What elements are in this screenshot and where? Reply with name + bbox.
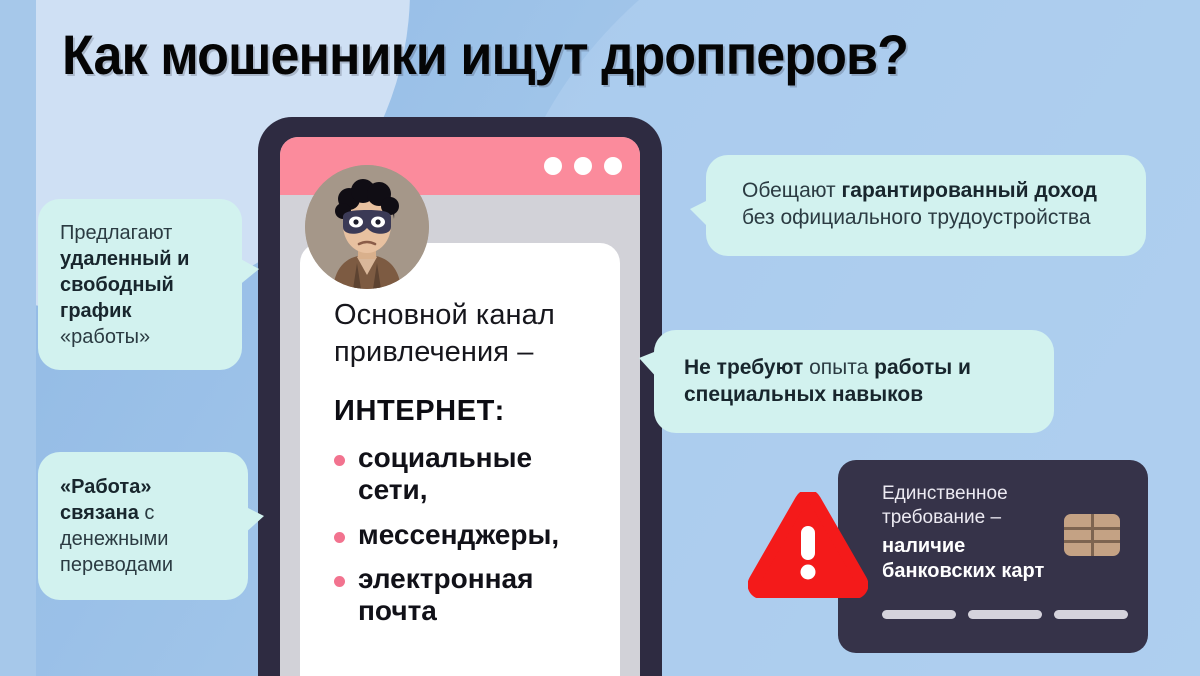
bubble-money-transfers: «Работа» связана с денежными переводами (38, 452, 248, 600)
bubble-text-part: опыта (809, 356, 874, 379)
screen-heading: ИНТЕРНЕТ: (334, 395, 594, 428)
bubble-text-bold: гарантированный доход (842, 179, 1098, 202)
bubble-tail (639, 350, 659, 380)
card-bar (882, 610, 956, 619)
list-item: социальные сети, (334, 442, 594, 506)
avatar (305, 165, 429, 289)
bubble-text-part: «работы» (60, 326, 150, 348)
page-title: Как мошенники ищут дропперов? (62, 22, 908, 87)
bubble-text-part: Обещают (742, 179, 842, 202)
card-number-bars (882, 610, 1128, 619)
bubble-tail (690, 199, 710, 229)
window-dot-icon (544, 157, 562, 175)
bubble-text-part: Предлагают (60, 222, 172, 244)
card-bar (1054, 610, 1128, 619)
screen-lead-text: Основной канал привлечения – (334, 297, 594, 371)
card-lead-line-1: Единственное (882, 482, 1126, 506)
background-left-strip (0, 0, 36, 676)
card-bar (968, 610, 1042, 619)
screen-lead-line-1: Основной канал (334, 297, 594, 334)
bubble-no-skills-required: Не требуют опыта работы и специальных на… (654, 330, 1054, 433)
bubble-tail (237, 257, 259, 287)
phone-screen: Основной канал привлечения – ИНТЕРНЕТ: с… (300, 243, 620, 676)
bubble-text-bold: «Работа» связана (60, 476, 151, 524)
screen-lead-line-2: привлечения – (334, 334, 594, 371)
card-chip-icon (1064, 514, 1120, 556)
bubble-text-part: без официального трудоустройства (742, 206, 1091, 229)
bubble-text-bold: Не требуют (684, 356, 809, 379)
window-dot-icon (604, 157, 622, 175)
list-item: мессенджеры, (334, 519, 594, 551)
channel-list: социальные сети, мессенджеры, электронна… (334, 442, 594, 627)
card-bold-line-2: банковских карт (882, 559, 1126, 584)
list-item: электронная почта (334, 563, 594, 627)
bubble-remote-schedule: Предлагают удаленный и свободный график … (38, 199, 242, 370)
window-dot-icon (574, 157, 592, 175)
bubble-text-bold: удаленный и свободный график (60, 248, 189, 322)
warning-triangle-icon (748, 492, 868, 598)
scammer-avatar-icon (305, 165, 429, 289)
window-dots (544, 157, 622, 175)
bubble-guaranteed-income: Обещают гарантированный доход без официа… (706, 155, 1146, 256)
bubble-tail (244, 506, 264, 534)
bank-card-panel: Единственное требование – наличие банков… (838, 460, 1148, 653)
